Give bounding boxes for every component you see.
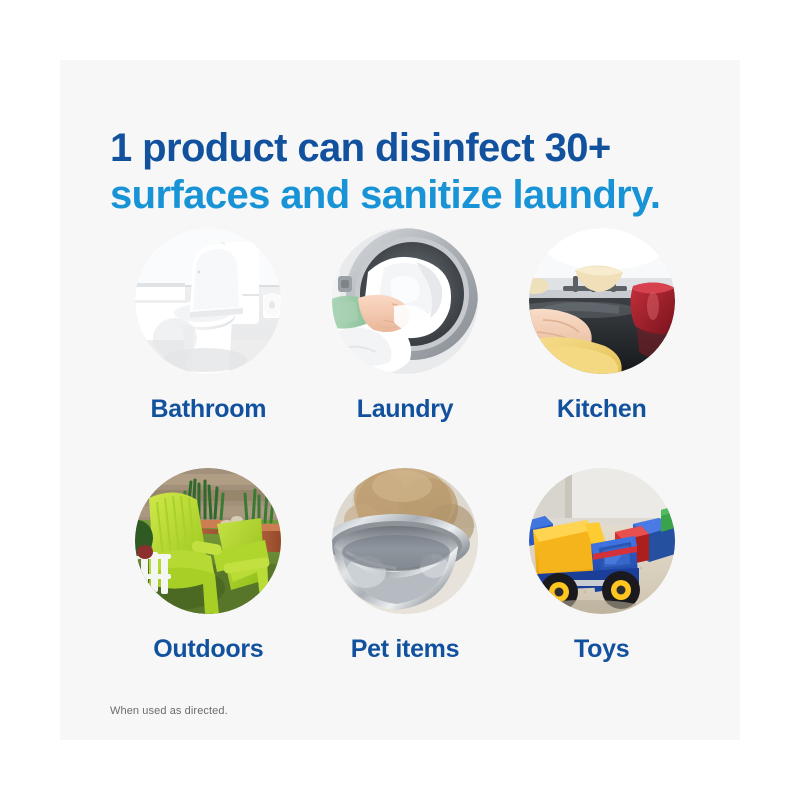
tile-bathroom: Bathroom [110, 228, 307, 468]
pet-items-photo-svg [332, 468, 478, 614]
headline-line-2: surfaces and sanitize laundry. [110, 172, 710, 219]
tile-label-pet-items: Pet items [351, 635, 459, 663]
toys-photo-svg [529, 468, 675, 614]
pet-items-photo [332, 468, 478, 614]
headline: 1 product can disinfect 30+ surfaces and… [110, 125, 710, 219]
bathroom-photo [135, 228, 281, 374]
tile-outdoors: Outdoors [110, 468, 307, 708]
laundry-photo [332, 228, 478, 374]
tile-label-bathroom: Bathroom [151, 395, 267, 423]
infographic-page: 1 product can disinfect 30+ surfaces and… [0, 0, 800, 800]
content-card: 1 product can disinfect 30+ surfaces and… [60, 60, 740, 740]
kitchen-photo [529, 228, 675, 374]
kitchen-photo-svg [529, 228, 675, 374]
outdoors-photo-svg [135, 468, 281, 614]
toys-photo [529, 468, 675, 614]
tile-laundry: Laundry [307, 228, 504, 468]
tile-pet-items: Pet items [307, 468, 504, 708]
tile-label-toys: Toys [574, 635, 629, 663]
laundry-photo-svg [332, 228, 478, 374]
outdoors-photo [135, 468, 281, 614]
tile-label-laundry: Laundry [357, 395, 454, 423]
headline-line-1: 1 product can disinfect 30+ [110, 125, 710, 172]
tile-kitchen: Kitchen [503, 228, 700, 468]
tile-label-kitchen: Kitchen [557, 395, 647, 423]
footnote-disclaimer: When used as directed. [110, 705, 228, 717]
bathroom-photo-svg [135, 228, 281, 374]
tile-toys: Toys [503, 468, 700, 708]
surface-tile-grid: Bathroom [110, 228, 700, 708]
tile-label-outdoors: Outdoors [153, 635, 263, 663]
